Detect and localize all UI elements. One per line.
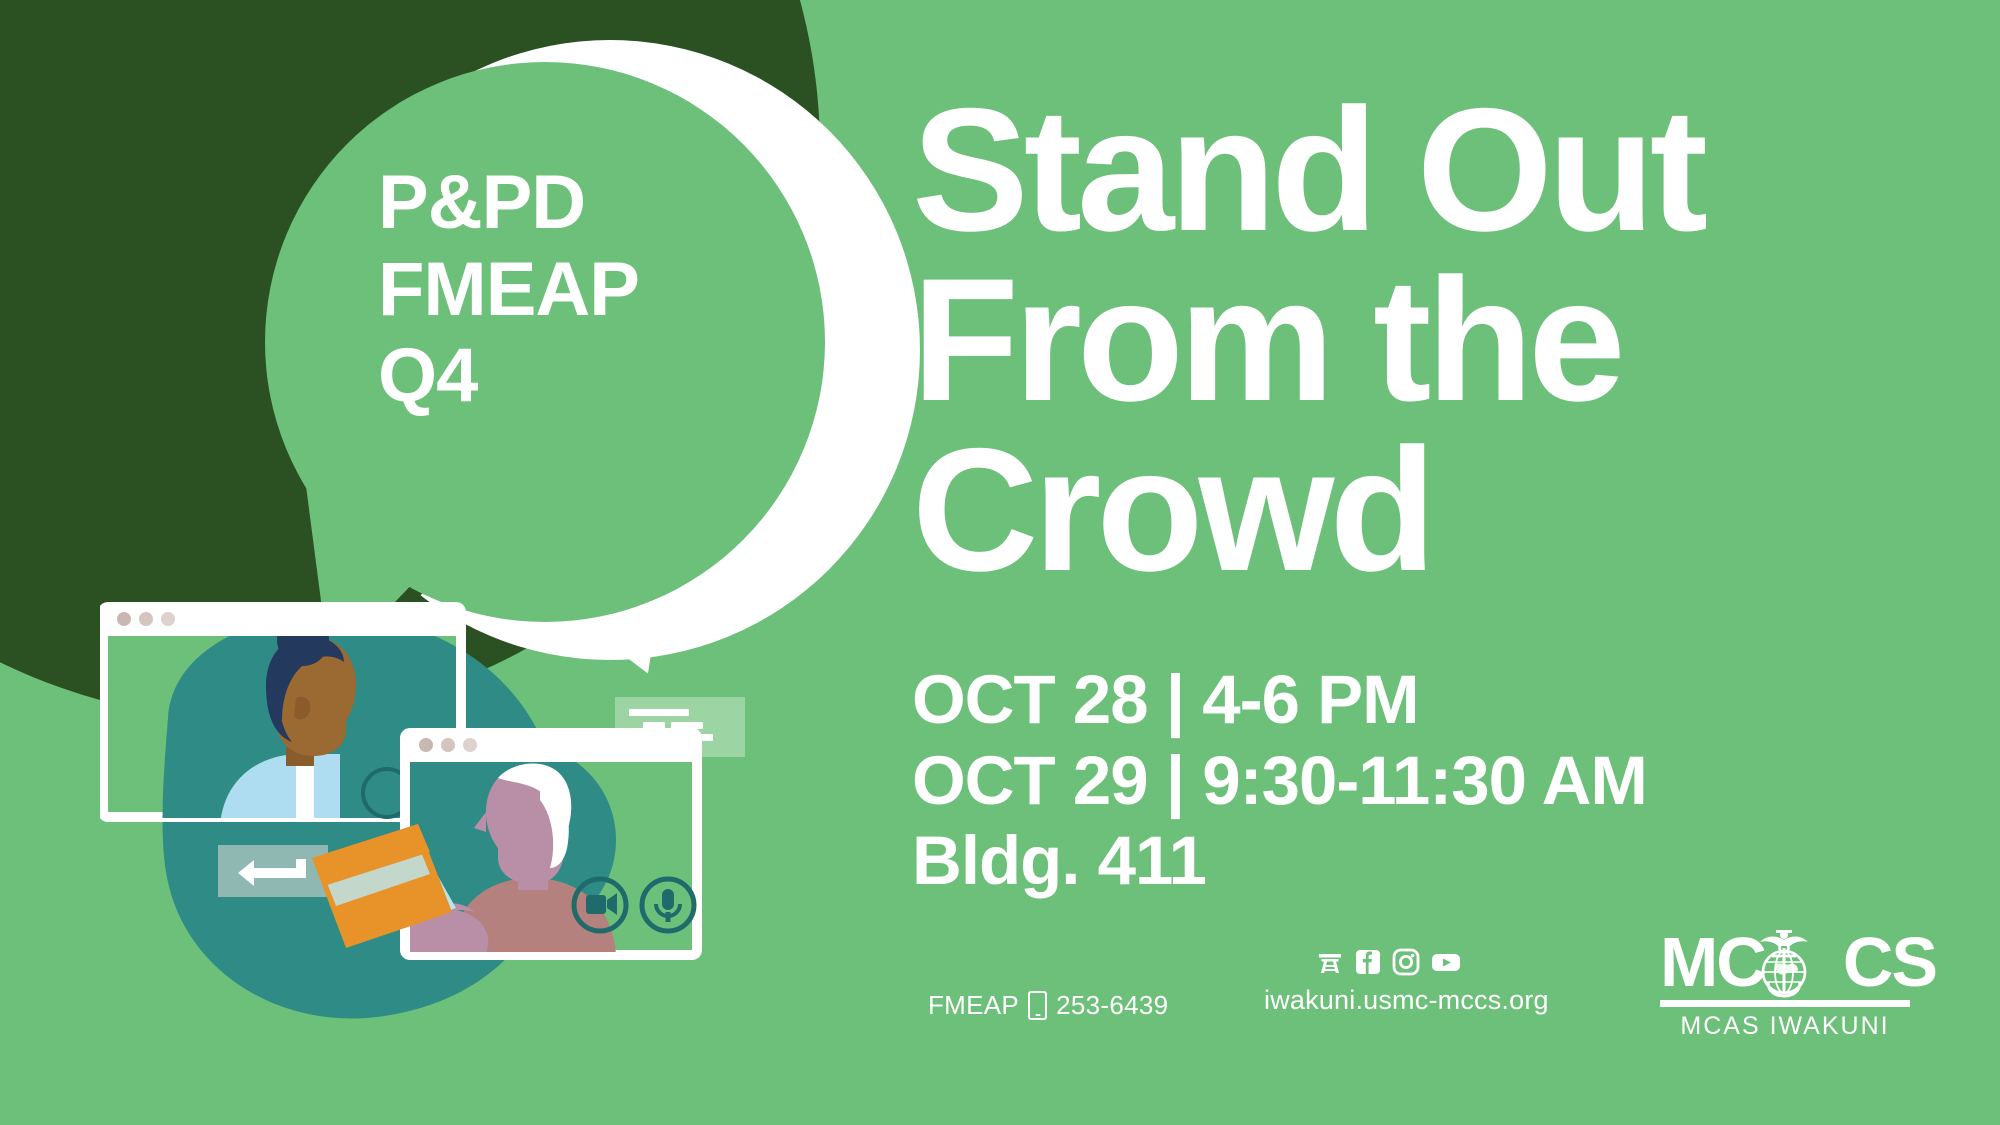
badge-line-3: Q4 [378, 333, 808, 420]
mccs-wordmark-right: CS [1843, 923, 1936, 1001]
facebook-icon[interactable] [1354, 948, 1382, 976]
event-date-line-2: OCT 29 | 9:30-11:30 AM [912, 741, 1942, 822]
chat-line [671, 722, 703, 729]
torii-gate-icon[interactable] [1316, 948, 1344, 976]
badge-line-2: FMEAP [378, 247, 808, 334]
footer-contact: FMEAP 253-6439 [928, 990, 1168, 1021]
event-details: OCT 28 | 4-6 PM OCT 29 | 9:30-11:30 AM B… [912, 660, 1942, 902]
headline-line-1: Stand Out [912, 86, 1942, 256]
headline-line-2: From the [912, 256, 1942, 426]
social-icon-row [1264, 945, 1514, 979]
youtube-icon[interactable] [1430, 948, 1462, 976]
mccs-divider [1660, 1000, 1910, 1007]
video-call-illustration [100, 590, 900, 1125]
mccs-logo: MCCS [1660, 930, 1910, 1041]
footer-phone-number: 253-6439 [1056, 990, 1168, 1021]
chat-line [643, 722, 665, 729]
eagle-globe-anchor-icon [1746, 924, 1822, 1000]
poster-canvas: P&PD FMEAP Q4 Stand Out From the Crowd O… [0, 0, 2000, 1125]
chat-line [643, 745, 681, 752]
footer-web-block: iwakuni.usmc-mccs.org [1264, 945, 1514, 1016]
chat-line [643, 734, 713, 741]
footer-website-url[interactable]: iwakuni.usmc-mccs.org [1264, 985, 1514, 1016]
headline: Stand Out From the Crowd [912, 86, 1942, 595]
mccs-subtitle: MCAS IWAKUNI [1660, 1012, 1910, 1041]
event-location: Bldg. 411 [912, 821, 1942, 902]
chat-line [629, 709, 689, 716]
enter-key [218, 845, 328, 897]
headline-line-3: Crowd [912, 426, 1942, 596]
program-badge-text: P&PD FMEAP Q4 [378, 160, 808, 420]
chat-message-panel [615, 697, 745, 757]
badge-line-1: P&PD [378, 160, 808, 247]
mobile-phone-icon [1028, 991, 1047, 1020]
instagram-icon[interactable] [1392, 948, 1420, 976]
footer-contact-label: FMEAP [928, 990, 1019, 1021]
event-date-line-1: OCT 28 | 4-6 PM [912, 660, 1942, 741]
